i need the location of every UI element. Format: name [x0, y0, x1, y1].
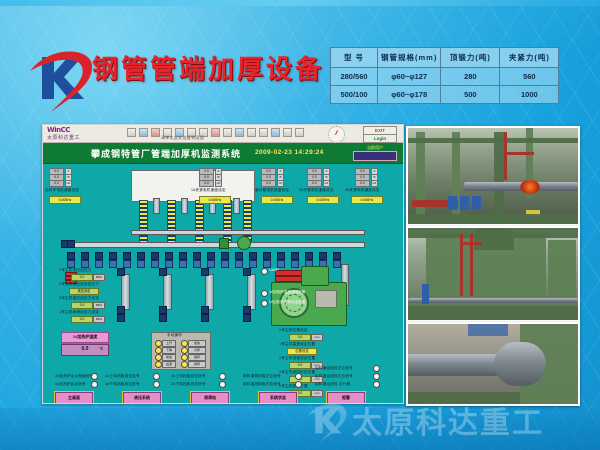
page-title: 钢管管端加厚设备	[92, 49, 324, 86]
machine-column	[139, 200, 148, 246]
toolbar-icon-group[interactable]	[127, 128, 304, 137]
watermark: 太原科达重工	[300, 392, 600, 446]
hydraulic-cylinder	[233, 198, 240, 214]
group-setpoint[interactable]: 0.000Hz	[307, 196, 339, 204]
new-file-icon[interactable]	[127, 128, 136, 137]
cell-model: 280/560	[331, 68, 378, 86]
nav-button-main[interactable]: 主画面	[55, 392, 93, 404]
cell-upset-force: 500	[441, 86, 500, 104]
group-label: 3#夹紧电机速度设定	[345, 188, 380, 193]
roller	[67, 240, 75, 248]
hmi-screenshot: WinCC 太原科达重工 请单击此处连接到画面 EX	[42, 124, 404, 404]
watermark-text: 太原科达重工	[352, 398, 544, 442]
cell-model: 500/100	[331, 86, 378, 104]
nav-button-status[interactable]: 系统状态	[259, 392, 297, 404]
redo-icon[interactable]	[223, 128, 232, 137]
furnace-temp-label: 1#加热炉温度	[61, 332, 109, 343]
panel-title: 手动操作	[167, 333, 182, 338]
grid-icon[interactable]	[247, 128, 256, 137]
col-clamp-force: 夹紧力(吨)	[500, 48, 559, 68]
drive-unit	[219, 238, 229, 249]
col-model: 型 号	[331, 48, 378, 68]
wincc-brand-sub: 太原科达重工	[47, 134, 80, 141]
hmi-system-title: 攀成钢特管厂管端加厚机监测系统	[91, 147, 241, 160]
stop-icon[interactable]	[271, 128, 280, 137]
table-header-row: 型 号 钢管规格(mm) 顶锻力(吨) 夹紧力(吨)	[331, 48, 559, 68]
clock-gauge-icon	[328, 126, 345, 143]
spec-table: 型 号 钢管规格(mm) 顶锻力(吨) 夹紧力(吨) 280/560 φ60~φ…	[330, 47, 559, 104]
furnace-temp-unit: ℃	[99, 347, 104, 351]
machine-column	[195, 200, 204, 246]
cell-pipe-spec: φ60~φ127	[378, 68, 441, 86]
save-icon[interactable]	[151, 128, 160, 137]
hmi-timestamp: 2009-02-23 14:29:24	[255, 149, 324, 156]
nav-button-lubrication[interactable]: 润滑站	[191, 392, 229, 404]
ram-cylinder	[121, 274, 130, 310]
slide-canvas: 钢管管端加厚设备 型 号 钢管规格(mm) 顶锻力(吨) 夹紧力(吨) 280/…	[0, 0, 600, 450]
photo-production-line	[406, 126, 580, 226]
ram-cylinder	[205, 274, 214, 310]
group-label: 后料车电机速度设定	[45, 188, 79, 193]
cell-pipe-spec: φ60~φ178	[378, 86, 441, 104]
ram-cylinder	[163, 274, 172, 310]
wincc-brand: WinCC	[47, 126, 70, 134]
hydraulic-cylinder	[153, 198, 160, 214]
group-setpoint[interactable]: 0.000Hz	[261, 196, 293, 204]
col-upset-force: 顶锻力(吨)	[441, 48, 500, 68]
conveyor-rail	[63, 242, 365, 248]
hmi-title-bar: 攀成钢特管厂管端加厚机监测系统 2009-02-23 14:29:24 当前用户	[43, 143, 403, 164]
help-icon[interactable]	[295, 128, 304, 137]
col-pipe-spec: 钢管规格(mm)	[378, 48, 441, 68]
login-button[interactable]: Login	[363, 134, 397, 143]
table-row: 500/100 φ60~φ178 500 1000	[331, 86, 559, 104]
hmi-mimic-diagram: 手动操作 上升 下降 前进 后退 加热 冷却 旋转 停转 1#加热炉温度 0.0…	[43, 164, 403, 404]
hydraulic-cylinder	[181, 198, 188, 214]
group-setpoint[interactable]: 0.000Hz	[49, 196, 81, 204]
settings-icon[interactable]	[283, 128, 292, 137]
cell-clamp-force: 1000	[500, 86, 559, 104]
control-cabinet	[315, 290, 337, 308]
undo-icon[interactable]	[211, 128, 220, 137]
table-row: 280/560 φ60~φ127 280 560	[331, 68, 559, 86]
photo-upsetting-machine	[406, 226, 580, 322]
nav-button-hydraulic[interactable]: 液压系统	[123, 392, 161, 404]
kd-k-logo-icon	[24, 39, 98, 113]
group-label: 2#夹紧电机速度设定	[299, 188, 334, 193]
upper-rail	[131, 230, 365, 235]
open-file-icon[interactable]	[139, 128, 148, 137]
group-label: 驱动辊电机速度设定	[255, 188, 289, 193]
toolbar-hint: 请单击此处连接到画面	[161, 135, 204, 141]
wincc-toolbar: WinCC 太原科达重工 请单击此处连接到画面 EX	[43, 125, 403, 143]
drive-motor	[237, 236, 251, 250]
current-user-field[interactable]	[353, 151, 397, 161]
group-setpoint[interactable]: 0.000Hz	[351, 196, 383, 204]
current-user-box: 当前用户	[353, 145, 397, 161]
cell-clamp-force: 560	[500, 68, 559, 86]
cell-upset-force: 280	[441, 68, 500, 86]
ram-cylinder	[247, 274, 256, 310]
group-label: 1#夹紧电机速度设定	[191, 188, 226, 193]
zoom-icon[interactable]	[235, 128, 244, 137]
machine-column	[167, 200, 176, 246]
kd-k-logo-icon	[304, 396, 350, 446]
top-gradient-band	[0, 0, 600, 6]
group-setpoint[interactable]: 0.000Hz	[199, 196, 231, 204]
run-icon[interactable]	[259, 128, 268, 137]
